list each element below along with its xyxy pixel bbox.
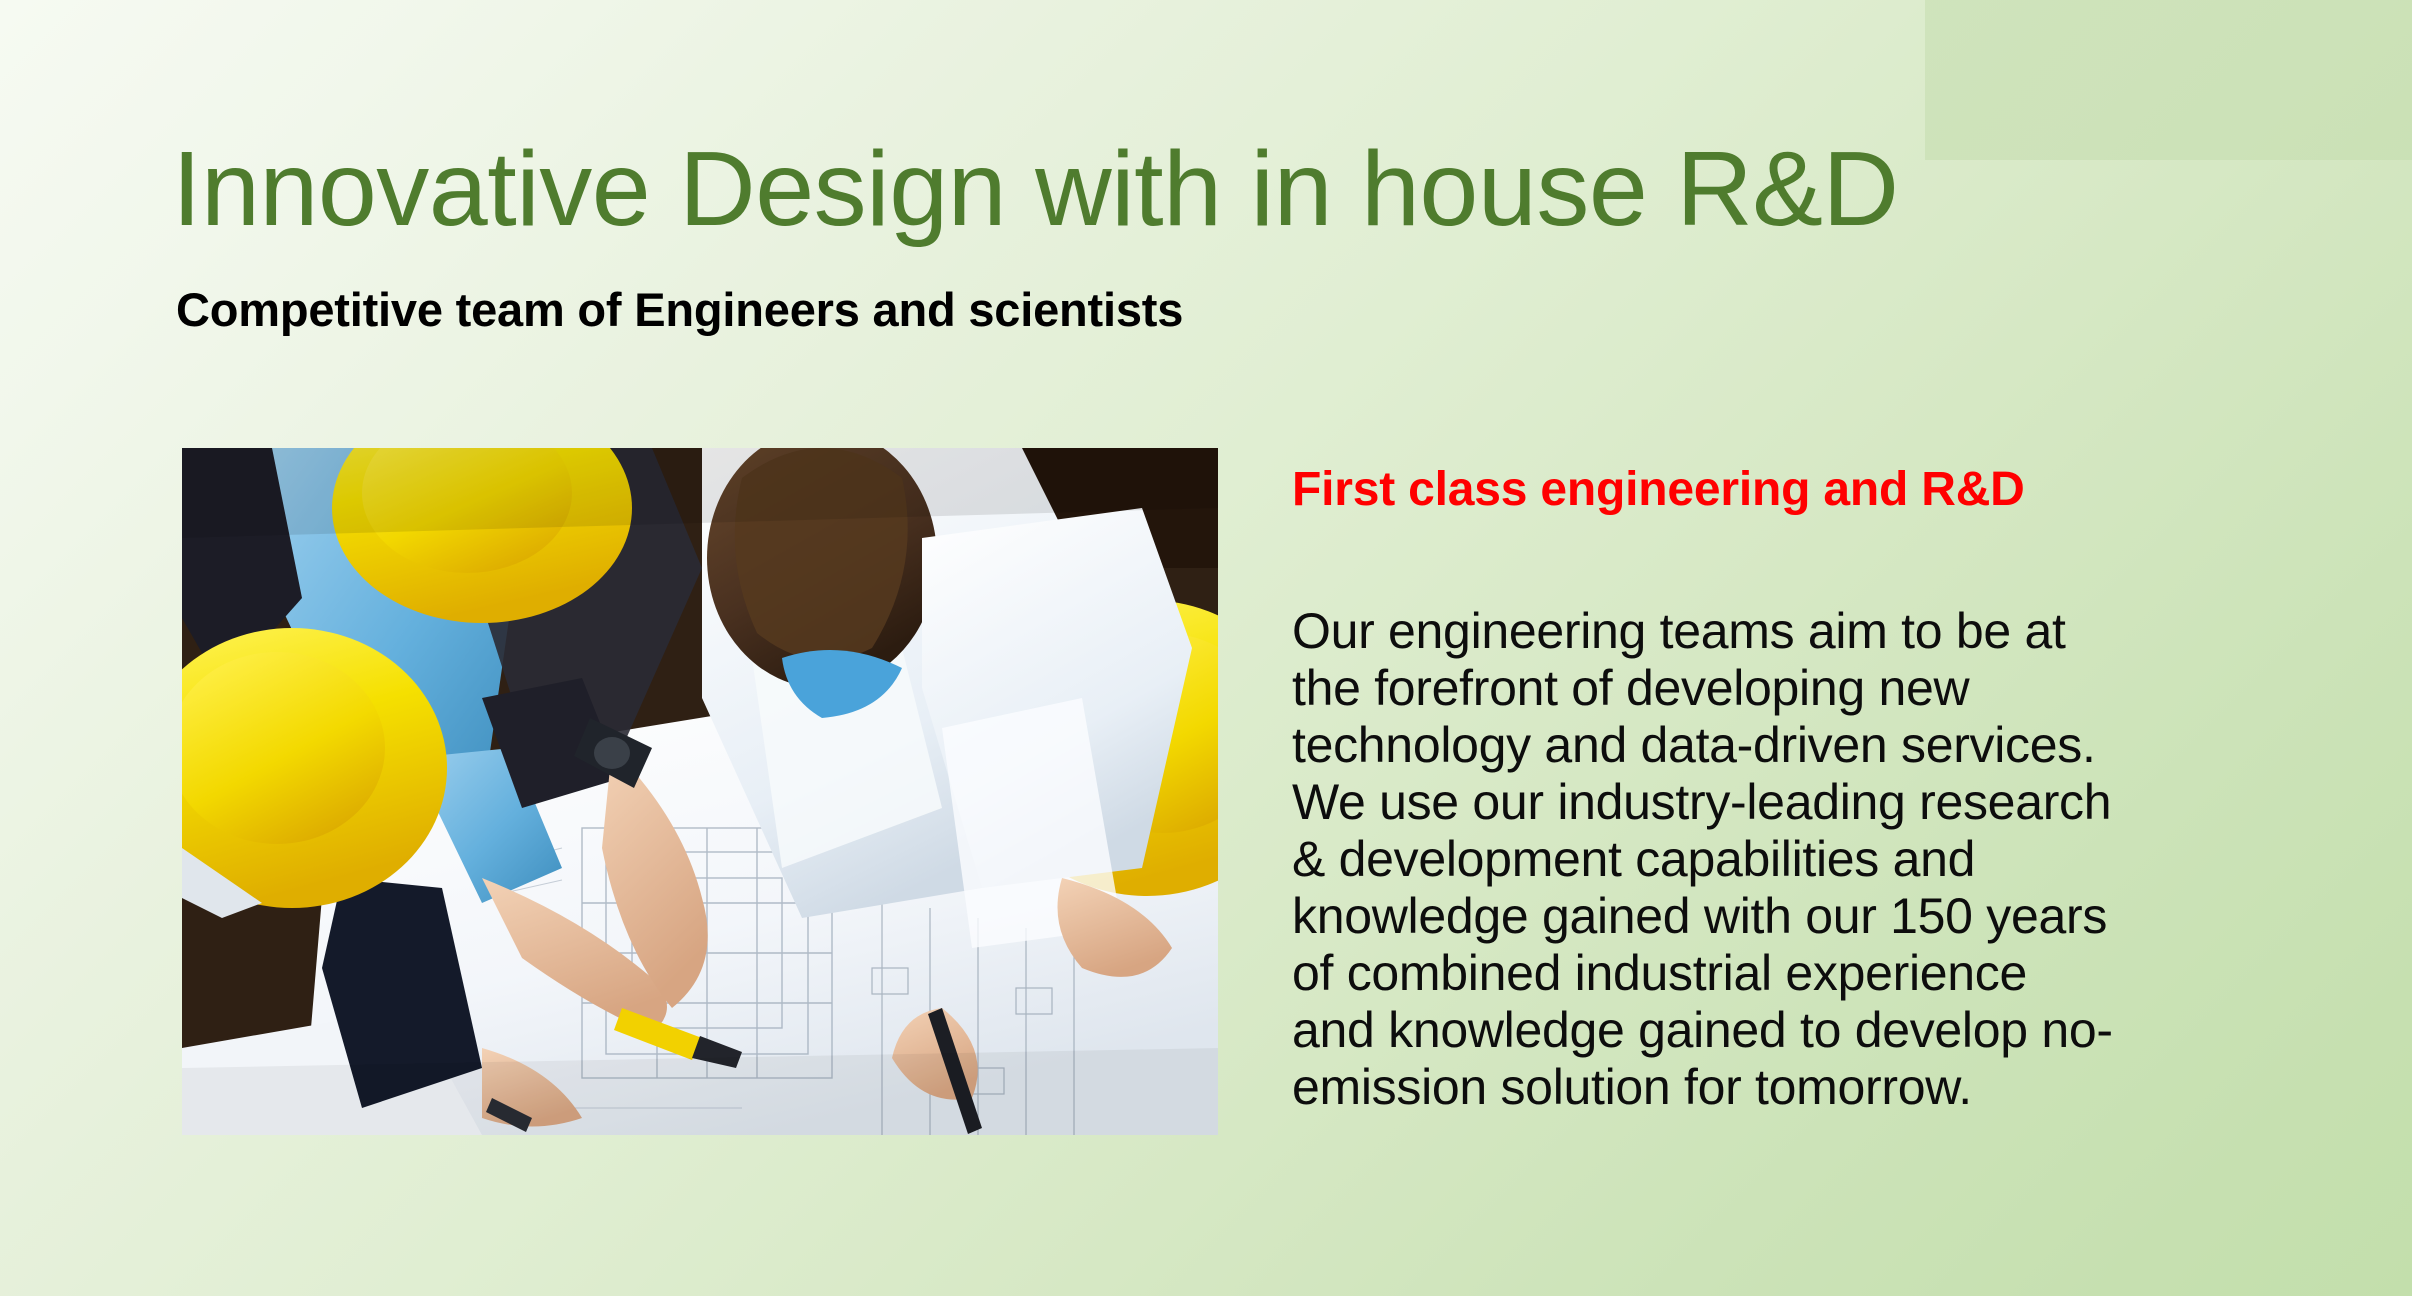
team-photo-illustration <box>182 448 1218 1135</box>
right-text-column: First class engineering and R&D Our engi… <box>1292 448 2252 1116</box>
body-paragraph: Our engineering teams aim to be at the f… <box>1292 517 2252 1116</box>
red-heading: First class engineering and R&D <box>1292 448 2252 517</box>
slide-canvas: Innovative Design with in house R&D Comp… <box>0 0 2412 1296</box>
page-title: Innovative Design with in house R&D <box>172 133 2272 245</box>
subtitle-text: Competitive team of Engineers and scient… <box>176 283 1183 337</box>
team-photo <box>182 448 1218 1135</box>
